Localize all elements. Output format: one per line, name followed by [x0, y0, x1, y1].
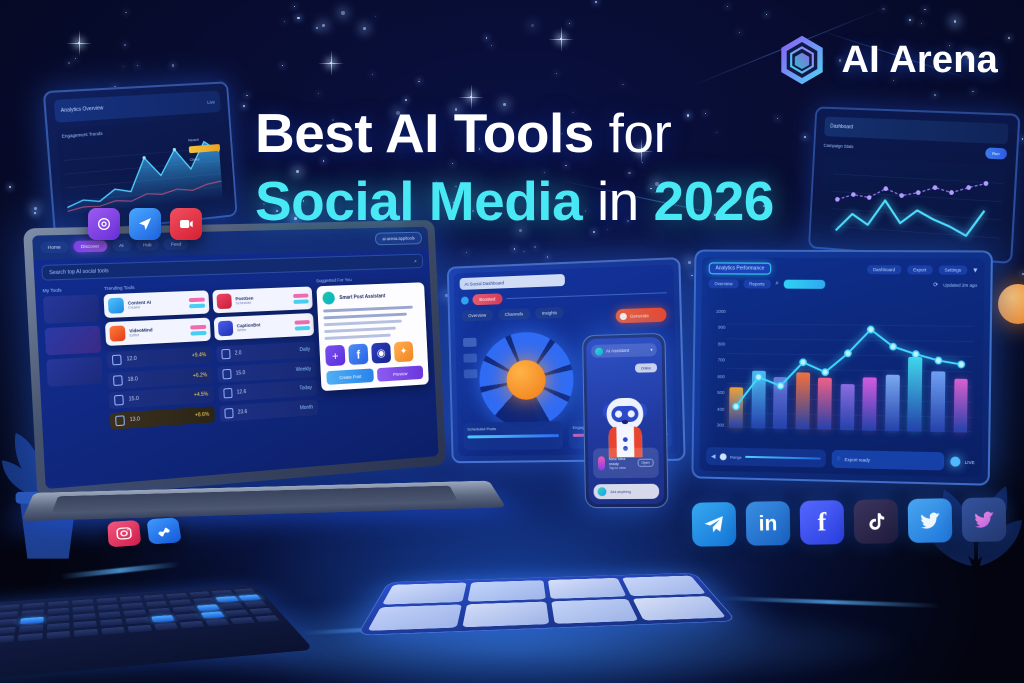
cross-star	[470, 96, 472, 98]
star	[125, 12, 127, 14]
star	[622, 84, 624, 86]
list-item-metric: Weekly	[296, 366, 312, 373]
star	[124, 44, 126, 46]
y-tick: 800	[718, 341, 725, 346]
card-body-line	[324, 320, 402, 327]
star	[1008, 37, 1010, 39]
phone-footer-bar[interactable]: Ask anything	[593, 484, 659, 499]
laptop-list-section: 12.0+9.4%18.0+6.2%15.0+4.5%13.0+8.6% 2.0…	[106, 341, 318, 432]
avatar	[322, 291, 335, 304]
url-chip[interactable]: ai-arena.app/tools	[375, 232, 422, 246]
cloud-icon: ◌	[837, 456, 841, 462]
star	[909, 19, 911, 21]
keyboard-key[interactable]	[0, 604, 19, 611]
monitor-footer-status: Export ready	[844, 457, 870, 463]
star	[766, 14, 767, 15]
phone-header-title: AI Assistant	[606, 348, 629, 354]
search-icon[interactable]: ⌕	[775, 281, 778, 288]
keyboard-key[interactable]	[169, 599, 192, 605]
notification-icon	[598, 456, 605, 470]
list-item-value: 18.0	[128, 373, 189, 383]
list-item-icon	[114, 395, 124, 406]
keyboard-key[interactable]	[73, 621, 96, 629]
chevron-down-icon[interactable]: ▾	[973, 265, 977, 274]
keyboard-key[interactable]	[48, 601, 69, 607]
star	[547, 256, 548, 257]
keyboard-key[interactable]	[215, 596, 238, 602]
list-item-metric: Month	[300, 404, 313, 411]
star	[569, 23, 570, 24]
keyboard-key[interactable]	[238, 595, 261, 601]
monitor-chart	[725, 309, 974, 433]
star	[954, 20, 957, 23]
list-item-value: 15.0	[129, 393, 189, 403]
phone-message-title: New idea ready	[609, 456, 634, 466]
list-item-value: 12.0	[127, 353, 188, 362]
keyboard-key[interactable]	[196, 604, 219, 611]
keyboard-key[interactable]	[96, 598, 117, 604]
keyboard-key[interactable]	[74, 629, 98, 637]
keyboard-key[interactable]	[254, 615, 279, 622]
tab-ai[interactable]: AI	[112, 240, 132, 252]
tablet-channel-pie-chart	[478, 331, 574, 429]
tr-panel-title: Dashboard	[830, 124, 853, 131]
tool-tag-pink	[293, 293, 308, 298]
slider-thumb[interactable]	[719, 453, 726, 460]
keyboard-key[interactable]	[172, 606, 195, 613]
tablet-pill-channels[interactable]: Channels	[498, 308, 530, 320]
tool-tag-pink	[294, 320, 309, 325]
star	[375, 16, 376, 17]
headline-light-1: for	[609, 102, 672, 164]
list-item[interactable]: 13.0+8.6%	[110, 406, 215, 429]
keyboard-key[interactable]	[230, 617, 255, 624]
brand-name: AI Arena	[842, 39, 998, 82]
star	[322, 24, 325, 27]
star	[921, 23, 922, 24]
nova-wave-icon[interactable]	[147, 517, 182, 544]
keyboard-key[interactable]	[189, 591, 211, 597]
tool-tag-cyan	[295, 325, 310, 330]
keyboard-key[interactable]	[0, 619, 17, 626]
keyboard-key[interactable]	[123, 610, 146, 617]
tablet-generate-label: Generate	[630, 313, 649, 319]
app-card[interactable]	[551, 599, 639, 624]
tl-legend-bar	[189, 144, 220, 153]
star	[9, 186, 11, 188]
keyboard-key[interactable]	[233, 588, 255, 594]
instagram-icon[interactable]	[107, 520, 141, 547]
twitter-icon[interactable]: ✦	[394, 341, 414, 362]
phone-footer-text: Ask anything	[610, 489, 630, 493]
list-item-icon	[221, 349, 230, 360]
keyboard-key[interactable]	[98, 611, 121, 618]
twitter-icon[interactable]	[908, 498, 953, 543]
list-item-metric: +4.5%	[194, 391, 209, 398]
star	[297, 17, 299, 19]
location-pin-icon[interactable]: ◉	[371, 342, 391, 363]
star	[284, 21, 285, 22]
plus-icon[interactable]: +	[325, 345, 346, 367]
hexagon-logo-icon	[775, 33, 829, 87]
tool-card-grid: Content AI Creator	[103, 286, 318, 432]
headline-line-1: Best AI Tools for	[255, 104, 825, 162]
list-item[interactable]: 12.0+9.4%	[106, 347, 211, 369]
slider-track[interactable]	[746, 456, 822, 460]
keyboard-key[interactable]	[97, 604, 119, 611]
tool-icon	[109, 325, 125, 341]
phone-badge: Online	[635, 363, 657, 373]
app-card[interactable]	[367, 604, 461, 631]
star	[514, 248, 516, 250]
pie-center	[506, 360, 546, 401]
detail-panel-column: Smart Post Assistant + f ◉ ✦ Create Post	[316, 282, 430, 417]
card-body-line	[323, 306, 412, 313]
monitor-range-slider[interactable]: ◀ Range	[706, 447, 826, 468]
phone-message-row[interactable]: New idea ready Tap to view Open	[593, 448, 659, 479]
star	[294, 6, 295, 7]
keyboard-key[interactable]	[220, 603, 244, 610]
star	[924, 9, 925, 10]
monitor-screen: Analytics Performance Dashboard Export S…	[699, 257, 984, 477]
monitor-title-chip[interactable]: Analytics Performance	[709, 262, 772, 274]
keyboard-key[interactable]	[72, 606, 94, 613]
keyboard-key[interactable]	[148, 608, 171, 615]
star	[934, 94, 936, 96]
tl-legend-reach: Reach	[188, 135, 219, 142]
keyboard-key[interactable]	[211, 590, 233, 596]
list-column-left: 12.0+9.4%18.0+6.2%15.0+4.5%13.0+8.6%	[106, 347, 214, 433]
keyboard-key[interactable]	[20, 617, 43, 624]
social-platform-row[interactable]: in f	[692, 497, 1007, 546]
list-item[interactable]: 15.0+4.5%	[109, 386, 214, 409]
app-card[interactable]	[467, 580, 545, 601]
headline-strong-2: Social Media	[255, 170, 582, 232]
card-body-line	[325, 334, 391, 340]
facebook-icon[interactable]: f	[348, 344, 368, 365]
list-item-value: 13.0	[130, 412, 190, 422]
keyboard-key[interactable]	[0, 627, 16, 635]
star	[341, 11, 344, 14]
phone-message-subtitle: Tap to view	[609, 466, 634, 470]
tab-home[interactable]: Home	[40, 241, 68, 253]
tab-hub[interactable]: Hub	[136, 239, 159, 251]
list-item-metric: Today	[299, 385, 312, 392]
telegram-icon[interactable]	[692, 502, 737, 547]
tool-card[interactable]: VideoMind Editor	[105, 318, 211, 346]
tr-run-button[interactable]: Run	[985, 147, 1007, 159]
star	[372, 74, 373, 75]
star	[1022, 138, 1024, 140]
list-item-icon	[113, 375, 123, 386]
star	[739, 32, 740, 33]
star	[688, 261, 691, 264]
star	[418, 81, 419, 82]
star	[75, 58, 76, 59]
tool-card[interactable]: Content AI Creator	[103, 290, 209, 318]
y-tick: 1000	[716, 309, 726, 314]
card-body-line	[324, 313, 407, 320]
live-label: LIVE	[965, 459, 975, 464]
monitor-trend-line	[725, 309, 974, 433]
tr-chart-title: Campaign Stats	[824, 143, 854, 149]
video-icon[interactable]	[170, 208, 202, 240]
tool-card[interactable]: CaptionBot Writer	[214, 313, 314, 341]
card-platform-icons: + f ◉ ✦	[325, 341, 422, 367]
keyboard-key[interactable]	[205, 619, 230, 626]
twitter-pink-icon[interactable]	[962, 497, 1007, 542]
post-assistant-card[interactable]: Smart Post Assistant + f ◉ ✦ Create Post	[316, 282, 429, 391]
keyboard-key[interactable]	[72, 599, 93, 605]
monitor-pill-export[interactable]: Export	[907, 265, 932, 274]
phone-message-action[interactable]: Open	[637, 459, 653, 467]
keyboard-key[interactable]	[21, 610, 43, 617]
star	[531, 24, 534, 27]
y-tick: 900	[718, 325, 725, 330]
keyboard-key[interactable]	[125, 617, 149, 624]
keyboard-key[interactable]	[176, 613, 200, 620]
keyboard-key[interactable]	[0, 611, 18, 618]
phone-header: AI Assistant ▾	[591, 343, 657, 358]
top-left-app-icons[interactable]	[88, 208, 202, 240]
list-item-value: 15.0	[236, 367, 291, 376]
list-item[interactable]: 15.0Weekly	[217, 361, 316, 383]
tl-panel-title: Analytics Overview	[61, 105, 104, 114]
headline-strong-1: Best AI Tools	[255, 102, 594, 164]
headline-light-2: in	[597, 170, 639, 232]
keyboard-key[interactable]	[0, 635, 14, 644]
laptop-screen: Home Discover AI Hub Feed ai-arena.app/t…	[32, 227, 439, 489]
keyboard-key[interactable]	[179, 621, 204, 629]
card-header: Smart Post Assistant	[322, 288, 419, 304]
phone-screen: AI Assistant ▾ Online	[586, 337, 664, 504]
monitor-nav-reports[interactable]: Reports	[743, 279, 770, 288]
list-item-value: 23.6	[238, 405, 296, 415]
slider-label: Range	[730, 454, 742, 459]
star	[534, 246, 536, 248]
card-body-line	[324, 327, 396, 333]
list-item-icon	[112, 355, 122, 366]
chevron-down-icon[interactable]: ▾	[650, 347, 652, 353]
y-tick: 600	[717, 374, 724, 379]
list-item-value: 12.6	[237, 386, 295, 396]
star	[137, 65, 138, 66]
star	[34, 207, 37, 210]
page-title: Best AI Tools for Social Media in 2026	[255, 104, 825, 230]
list-item-icon	[224, 407, 233, 418]
keyboard-key[interactable]	[121, 603, 143, 610]
tool-tag-pink	[190, 324, 206, 329]
monitor-status: Updated 2m ago	[943, 283, 977, 288]
card-title: Smart Post Assistant	[339, 293, 385, 301]
y-tick: 700	[718, 358, 725, 363]
keyboard-key[interactable]	[19, 625, 43, 633]
star	[405, 99, 407, 101]
keyboard-keys[interactable]	[0, 588, 280, 646]
tr-panel-chart	[818, 156, 1006, 260]
send-icon[interactable]	[129, 208, 161, 240]
tool-tag-cyan	[293, 299, 308, 304]
star	[316, 27, 318, 29]
cross-star	[330, 62, 332, 64]
monitor-live-indicator: LIVE	[950, 456, 974, 467]
mini-card[interactable]	[45, 326, 102, 356]
star	[882, 8, 884, 10]
star	[486, 37, 488, 39]
mini-card-column	[43, 294, 106, 437]
headline-line-2: Social Media in 2026	[255, 172, 825, 230]
monitor-footer: ◀ Range ◌ Export ready LIVE	[706, 447, 975, 471]
mini-card[interactable]	[43, 294, 100, 323]
top-right-dashboard-panel[interactable]: Dashboard Campaign Stats Run	[808, 106, 1020, 264]
sparkle-icon	[620, 312, 627, 319]
tool-subtitle: Scheduler	[236, 299, 290, 305]
app-card[interactable]	[633, 596, 727, 621]
star	[363, 27, 367, 31]
smartphone-device[interactable]: AI Assistant ▾ Online	[582, 333, 668, 508]
cross-star	[560, 38, 562, 40]
list-item[interactable]: 23.6Month	[219, 399, 318, 422]
star	[691, 275, 693, 277]
star	[123, 66, 124, 67]
monitor-search-input[interactable]	[784, 280, 826, 289]
list-item-metric: +9.4%	[192, 352, 207, 359]
decorative-orange-orb	[998, 284, 1024, 324]
list-item-icon	[223, 388, 232, 399]
tl-legend: Reach Clicks	[188, 135, 221, 162]
tool-subtitle: Creator	[128, 303, 185, 309]
star	[972, 91, 974, 93]
card-body-lines	[323, 305, 421, 340]
keyboard-key[interactable]	[73, 613, 95, 620]
monitor-pill-settings[interactable]: Settings	[938, 265, 967, 274]
keyboard-key[interactable]	[243, 601, 267, 607]
list-item-metric: +6.2%	[193, 372, 208, 379]
headline-year: 2026	[654, 170, 774, 232]
monitor-y-axis: 1000900800700600500400300	[705, 309, 726, 428]
star	[34, 212, 36, 214]
monitor-status-chip[interactable]: ◌ Export ready	[832, 450, 945, 471]
keyboard-key[interactable]	[249, 608, 274, 615]
tool-tag-pink	[189, 297, 205, 302]
tool-icon	[216, 293, 232, 309]
tl-panel-header: Analytics Overview Live	[54, 91, 221, 123]
monitor-nav-overview[interactable]: Overview	[708, 279, 738, 288]
keyboard-key[interactable]	[100, 619, 123, 626]
star	[243, 105, 245, 107]
star	[68, 62, 70, 64]
cross-star	[78, 42, 80, 44]
app-card[interactable]	[547, 578, 626, 599]
volume-icon: ◀	[711, 453, 716, 460]
linkedin-icon[interactable]: in	[746, 501, 791, 546]
keyboard-key[interactable]	[47, 608, 69, 615]
laptop-device[interactable]: Home Discover AI Hub Feed ai-arena.app/t…	[36, 224, 486, 524]
keyboard-key[interactable]	[127, 625, 151, 633]
keyboard-key[interactable]	[47, 615, 69, 622]
star	[727, 6, 728, 7]
tool-icon	[108, 298, 124, 314]
keyboard-key[interactable]	[154, 623, 179, 631]
tab-feed[interactable]: Feed	[164, 238, 189, 250]
keyboard-key[interactable]	[143, 594, 165, 600]
star	[282, 65, 283, 66]
laptop-lid: Home Discover AI Hub Feed ai-arena.app/t…	[23, 220, 446, 500]
star	[595, 1, 597, 3]
keyboard-key[interactable]	[101, 627, 125, 635]
tr-line-chart	[818, 156, 1006, 260]
monitor-subbar: Overview Reports ⌕ ⟳ Updated 2m ago	[702, 279, 985, 294]
list-item[interactable]: 12.6Today	[218, 380, 317, 402]
star	[556, 73, 557, 74]
mini-card[interactable]	[46, 357, 103, 387]
monitor-toolbar: Analytics Performance Dashboard Export S…	[702, 257, 985, 280]
list-item-icon	[115, 415, 125, 426]
preview-button[interactable]: Preview	[377, 365, 423, 381]
section-my-tools: My Tools	[42, 286, 98, 293]
keyboard-key[interactable]	[151, 615, 175, 622]
keyboard-key[interactable]	[166, 593, 188, 599]
y-tick: 400	[717, 406, 724, 411]
desk-tablet-app-grid	[367, 576, 726, 631]
star	[246, 95, 247, 96]
bot-avatar-icon	[595, 347, 603, 355]
facebook-icon[interactable]: f	[800, 500, 845, 545]
refresh-icon[interactable]: ⟳	[933, 282, 938, 289]
keyboard-key[interactable]	[47, 623, 70, 631]
list-item-metric: +8.6%	[195, 411, 210, 418]
tl-panel-badge: Live	[207, 99, 215, 104]
live-dot-icon	[950, 456, 960, 466]
list-item[interactable]: 18.0+6.2%	[108, 366, 213, 388]
star	[419, 79, 420, 80]
keyboard-key[interactable]	[22, 603, 44, 610]
laptop-content-columns: Content AI Creator	[35, 282, 436, 438]
analytics-monitor[interactable]: Analytics Performance Dashboard Export S…	[691, 250, 993, 486]
tablet-pill-insights[interactable]: Insights	[535, 307, 564, 319]
tiktok-icon[interactable]	[854, 499, 899, 544]
monitor-pill-dashboard[interactable]: Dashboard	[867, 265, 901, 274]
poster-canvas: AI Arena Best AI Tools for Social Media …	[0, 0, 1024, 683]
keyboard-key[interactable]	[46, 631, 70, 639]
brand-logo[interactable]: AI Arena	[775, 33, 998, 87]
keyboard-key[interactable]	[225, 610, 249, 617]
star	[172, 64, 174, 66]
sparkle-icon	[597, 487, 606, 496]
tab-discover[interactable]: Discover	[73, 240, 107, 252]
list-item-metric: Daily	[299, 347, 310, 353]
purple-app-icon[interactable]	[88, 208, 120, 240]
tablet-generate-button[interactable]: Generate	[616, 307, 667, 323]
laptop-sticker-icons[interactable]	[107, 517, 182, 547]
app-card[interactable]	[462, 601, 549, 627]
keyboard-key[interactable]	[120, 596, 142, 602]
card-buttons: Create Post Preview	[326, 365, 423, 384]
create-post-button[interactable]: Create Post	[326, 368, 374, 384]
tool-icon	[218, 321, 234, 337]
app-card[interactable]	[622, 576, 706, 596]
keyboard-key[interactable]	[192, 598, 215, 604]
tool-card[interactable]: PostGen Scheduler	[212, 286, 313, 313]
list-item-value: 2.0	[235, 347, 295, 356]
keyboard-key[interactable]	[200, 611, 224, 618]
keyboard-key[interactable]	[18, 633, 43, 641]
search-icon[interactable]: ⌕	[414, 258, 417, 264]
app-card[interactable]	[382, 583, 466, 605]
keyboard-key[interactable]	[145, 601, 167, 607]
list-item[interactable]: 2.0Daily	[216, 341, 316, 362]
list-item-icon	[222, 368, 231, 379]
